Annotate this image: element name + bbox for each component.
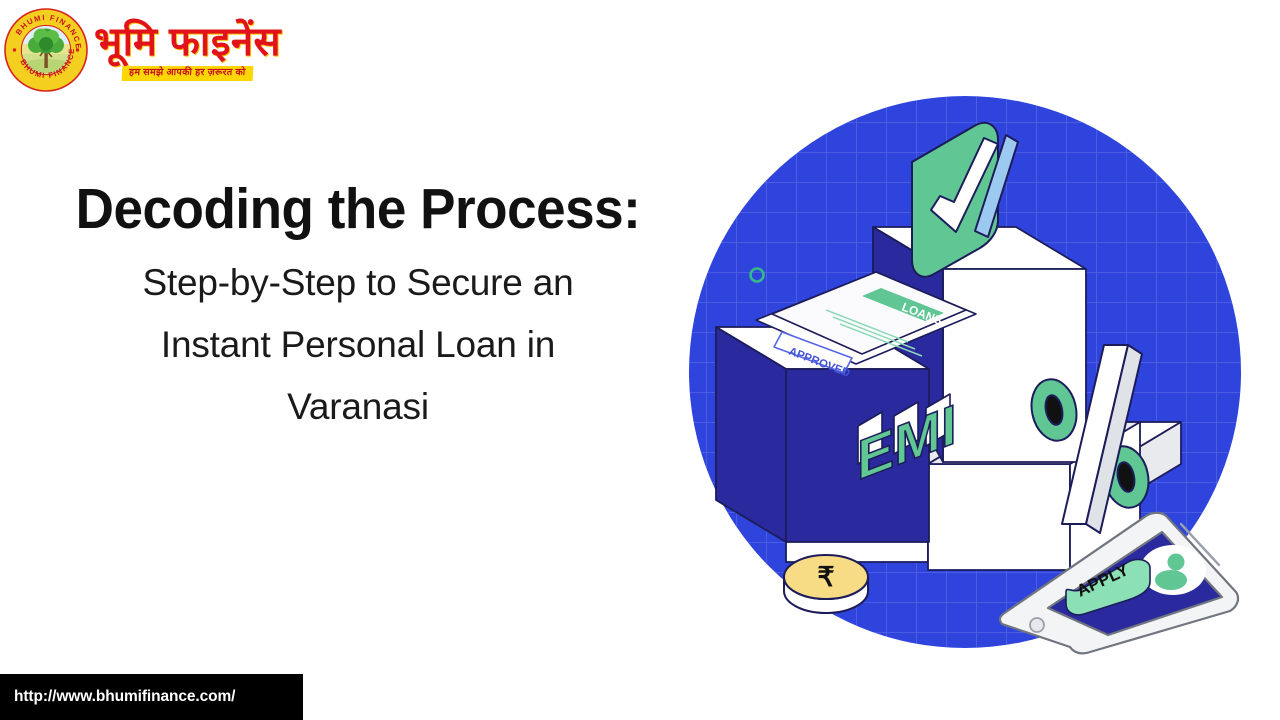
- hero-text-block: Decoding the Process: Step-by-Step to Se…: [18, 180, 698, 438]
- brand-wordmark: भूमि फाइनेंस हम समझे आपकी हर ज़रूरत को: [94, 20, 281, 81]
- rupee-symbol: ₹: [817, 562, 834, 592]
- page-subtitle: Step-by-Step to Secure an Instant Person…: [18, 252, 698, 438]
- page-title: Decoding the Process:: [42, 180, 674, 240]
- site-url[interactable]: http://www.bhumifinance.com/: [14, 688, 235, 706]
- brand-name-hindi: भूमि फाइनेंस: [94, 22, 281, 62]
- subtitle-line-3: Varanasi: [18, 376, 698, 438]
- banner-canvas: BHUMI FINANCE BHUMI FINANCE भूमि फाइनेंस…: [0, 0, 1280, 720]
- rupee-coin: ₹: [784, 555, 868, 613]
- subtitle-line-2: Instant Personal Loan in: [18, 314, 698, 376]
- bhumi-finance-tree-badge-icon: BHUMI FINANCE BHUMI FINANCE: [4, 8, 88, 92]
- isometric-loan-approval-steps-illustration: LOANS APPROVED: [676, 92, 1256, 662]
- brand-logo-lockup: BHUMI FINANCE BHUMI FINANCE भूमि फाइनेंस…: [4, 4, 294, 96]
- url-overlay-bar: http://www.bhumifinance.com/: [0, 674, 303, 720]
- brand-tagline: हम समझे आपकी हर ज़रूरत को: [122, 66, 253, 81]
- subtitle-line-1: Step-by-Step to Secure an: [18, 252, 698, 314]
